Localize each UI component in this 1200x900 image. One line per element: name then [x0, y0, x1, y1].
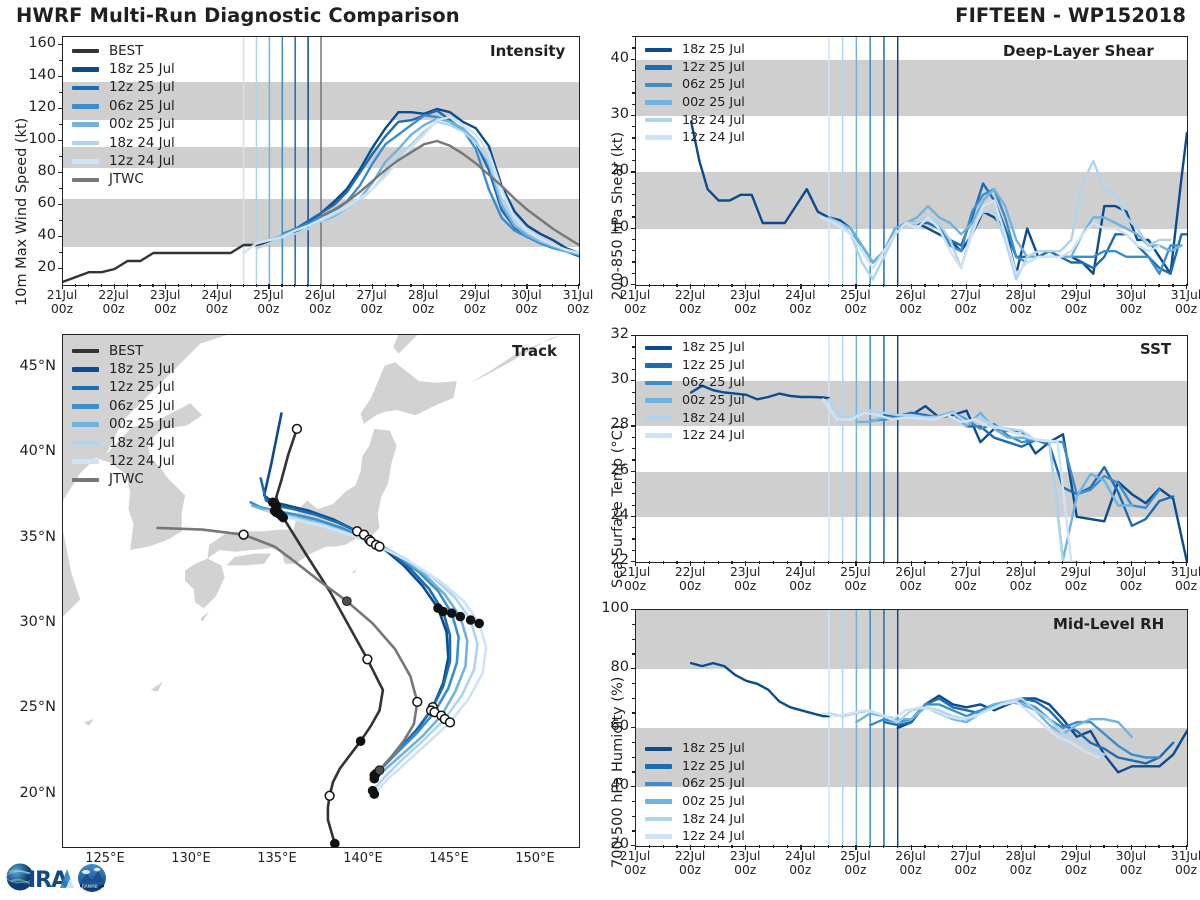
x-axis-minor-tick	[1172, 284, 1173, 287]
y-axis-minor-tick	[632, 653, 636, 654]
legend-item: BEST	[72, 42, 175, 60]
x-axis-minor-tick	[759, 845, 760, 848]
x-tick-day: 31Jul	[563, 288, 593, 302]
x-axis-minor-tick	[773, 284, 774, 287]
x-axis-minor-tick	[1090, 284, 1091, 287]
legend-item-label: 12z 25 Jul	[109, 80, 175, 95]
x-tick-hour: 00z	[51, 302, 73, 316]
x-axis-minor-tick	[787, 284, 788, 287]
y-axis-minor-tick	[59, 60, 63, 61]
x-tick-hour: 00z	[1120, 863, 1142, 877]
x-axis-minor-tick	[773, 561, 774, 564]
legend-item: 12z 25 Jul	[645, 357, 745, 375]
x-tick-day: 27Jul	[950, 849, 980, 863]
track-time-marker	[370, 774, 379, 783]
x-axis-tick-mark	[855, 284, 856, 289]
x-tick-hour: 00z	[844, 579, 866, 593]
map-lat-tick-label: 35°N	[4, 529, 56, 545]
x-axis-minor-tick	[359, 284, 360, 287]
x-tick-day: 26Jul	[895, 565, 925, 579]
y-axis-tick-mark	[58, 172, 63, 173]
figure-root: HWRF Multi-Run Diagnostic Comparison FIF…	[0, 0, 1200, 900]
x-tick-hour: 00z	[1010, 579, 1032, 593]
x-tick-day: 29Jul	[460, 288, 490, 302]
track-time-marker	[239, 530, 248, 539]
x-axis-tick-mark	[745, 284, 746, 289]
x-axis-minor-tick	[1117, 284, 1118, 287]
x-axis-tick-mark	[268, 284, 269, 289]
legend-item-label: 12z 25 Jul	[682, 759, 745, 774]
x-axis-minor-tick	[1007, 284, 1008, 287]
x-axis-minor-tick	[814, 561, 815, 564]
x-tick-hour: 00z	[309, 302, 331, 316]
x-axis-minor-tick	[1090, 561, 1091, 564]
x-axis-tick-label: 26Jul00z	[881, 288, 941, 316]
track-time-marker	[447, 609, 456, 618]
legend-item-label: 18z 24 Jul	[682, 113, 745, 128]
x-tick-day: 28Jul	[1005, 288, 1035, 302]
x-axis-tick-label: 26Jul00z	[881, 565, 941, 593]
x-axis-tick-mark	[911, 561, 912, 566]
y-axis-tick-label: 40	[593, 777, 629, 793]
legend-item: 18z 24 Jul	[72, 434, 175, 452]
x-axis-minor-tick	[1048, 845, 1049, 848]
x-tick-day: 29Jul	[1061, 849, 1091, 863]
legend-color-swatch	[72, 349, 99, 354]
x-axis-minor-tick	[1062, 845, 1063, 848]
legend-item-label: 06z 25 Jul	[682, 375, 745, 390]
x-axis-minor-tick	[979, 845, 980, 848]
data-series-line	[321, 141, 579, 245]
x-axis-tick-mark	[1076, 845, 1077, 850]
map-lon-tick-label: 150°E	[500, 852, 570, 867]
x-axis-minor-tick	[883, 284, 884, 287]
x-axis-tick-label: 27Jul00z	[936, 849, 996, 877]
legend-item-label: 00z 25 Jul	[682, 95, 745, 110]
legend-color-swatch	[645, 416, 672, 421]
x-tick-hour: 00z	[679, 302, 701, 316]
x-axis-minor-tick	[897, 284, 898, 287]
x-axis-minor-tick	[704, 561, 705, 564]
x-tick-hour: 00z	[899, 302, 921, 316]
x-tick-hour: 00z	[1065, 863, 1087, 877]
map-lon-tick-label: 135°E	[242, 852, 312, 867]
x-axis-minor-tick	[488, 284, 489, 287]
x-axis-minor-tick	[1048, 284, 1049, 287]
y-axis-minor-tick	[632, 683, 636, 684]
x-axis-tick-mark	[1076, 284, 1077, 289]
x-axis-minor-tick	[1103, 845, 1104, 848]
panel-track: 20°N25°N30°N35°N40°N45°N125°E130°E135°E1…	[0, 330, 590, 890]
y-axis-minor-tick	[632, 70, 636, 71]
legend-item-label: 00z 25 Jul	[682, 794, 745, 809]
x-axis-tick-mark	[855, 561, 856, 566]
x-tick-hour: 00z	[955, 302, 977, 316]
x-tick-day: 29Jul	[1061, 565, 1091, 579]
x-axis-tick-label: 29Jul00z	[1046, 565, 1106, 593]
y-axis-minor-tick	[632, 126, 636, 127]
legend-color-swatch	[645, 747, 672, 752]
y-axis-minor-tick	[632, 459, 636, 460]
x-axis-tick-mark	[800, 284, 801, 289]
y-axis-tick-label: 20	[20, 259, 56, 275]
x-tick-day: 24Jul	[785, 565, 815, 579]
x-tick-day: 25Jul	[840, 565, 870, 579]
legend-item: 12z 25 Jul	[645, 59, 745, 77]
x-axis-tick-label: 22Jul00z	[660, 849, 720, 877]
x-tick-hour: 00z	[1120, 579, 1142, 593]
legend-item: 12z 25 Jul	[645, 758, 745, 776]
x-axis-tick-mark	[635, 845, 636, 850]
y-axis-minor-tick	[632, 250, 636, 251]
legend-color-swatch	[72, 478, 99, 483]
legend-item: 00z 25 Jul	[72, 116, 175, 134]
track-time-marker	[475, 619, 484, 628]
panel-intensity: 10m Max Wind Speed (kt) 2040608010012014…	[0, 28, 590, 328]
figure-title-right: FIFTEEN - WP152018	[955, 4, 1186, 27]
x-axis-tick-mark	[855, 845, 856, 850]
y-axis-tick-mark	[631, 668, 636, 669]
x-axis-tick-mark	[423, 284, 424, 289]
legend-item-label: 18z 25 Jul	[109, 62, 175, 77]
y-axis-tick-mark	[58, 44, 63, 45]
y-axis-minor-tick	[632, 493, 636, 494]
x-tick-hour: 00z	[1175, 302, 1197, 316]
x-axis-minor-tick	[718, 561, 719, 564]
y-axis-tick-label: 100	[593, 600, 629, 616]
x-axis-tick-label: 21Jul00z	[605, 288, 665, 316]
x-tick-hour: 00z	[515, 302, 537, 316]
x-axis-minor-tick	[1090, 845, 1091, 848]
x-tick-hour: 00z	[1175, 863, 1197, 877]
track-time-marker	[356, 737, 365, 746]
x-axis-tick-label: 27Jul00z	[936, 288, 996, 316]
x-tick-hour: 00z	[206, 302, 228, 316]
x-tick-hour: 00z	[1175, 579, 1197, 593]
svg-text:IRA: IRA	[28, 868, 68, 893]
legend-item: 12z 24 Jul	[645, 427, 745, 445]
track-time-marker	[277, 512, 286, 521]
x-axis-minor-tick	[1145, 284, 1146, 287]
x-axis-tick-mark	[690, 284, 691, 289]
y-axis-tick-label: 120	[20, 99, 56, 115]
x-tick-day: 23Jul	[730, 565, 760, 579]
legend-color-swatch	[645, 83, 672, 88]
x-tick-hour: 00z	[789, 302, 811, 316]
x-tick-hour: 00z	[844, 863, 866, 877]
y-axis-tick-mark	[631, 59, 636, 60]
x-tick-day: 22Jul	[675, 565, 705, 579]
x-axis-minor-tick	[938, 845, 939, 848]
y-axis-tick-label: 24	[593, 507, 629, 523]
x-axis-tick-label: 22Jul00z	[660, 565, 720, 593]
legend-item: 00z 25 Jul	[645, 793, 745, 811]
x-axis-minor-tick	[952, 284, 953, 287]
x-axis-tick-label: 29Jul00z	[1046, 288, 1106, 316]
legend-color-swatch	[645, 346, 672, 351]
y-axis-minor-tick	[632, 482, 636, 483]
x-axis-minor-tick	[88, 284, 89, 287]
x-axis-tick-mark	[911, 845, 912, 850]
x-tick-day: 26Jul	[895, 288, 925, 302]
track-time-marker	[375, 766, 384, 775]
x-axis-minor-tick	[731, 561, 732, 564]
legend-color-swatch	[645, 817, 672, 822]
x-axis-tick-mark	[1021, 284, 1022, 289]
y-axis-minor-tick	[632, 137, 636, 138]
y-axis-tick-label: 40	[593, 50, 629, 66]
track-line	[281, 516, 486, 794]
legend-item: 00z 25 Jul	[645, 392, 745, 410]
x-axis-tick-label: 27Jul00z	[936, 565, 996, 593]
legend-item: 18z 25 Jul	[645, 41, 745, 59]
x-axis-minor-tick	[759, 561, 760, 564]
x-axis-tick-mark	[62, 284, 63, 289]
x-tick-day: 25Jul	[840, 849, 870, 863]
y-axis-tick-label: 26	[593, 462, 629, 478]
x-axis-minor-tick	[952, 561, 953, 564]
x-axis-minor-tick	[787, 561, 788, 564]
legend-item-label: 12z 24 Jul	[682, 428, 745, 443]
y-axis-minor-tick	[632, 639, 636, 640]
x-tick-day: 25Jul	[840, 288, 870, 302]
x-tick-day: 21Jul	[620, 849, 650, 863]
x-axis-minor-tick	[152, 284, 153, 287]
x-tick-day: 24Jul	[785, 849, 815, 863]
x-tick-day: 23Jul	[150, 288, 180, 302]
x-axis-tick-mark	[635, 561, 636, 566]
x-axis-minor-tick	[842, 284, 843, 287]
x-axis-minor-tick	[718, 284, 719, 287]
x-axis-tick-mark	[800, 845, 801, 850]
x-tick-hour: 00z	[734, 863, 756, 877]
legend-item: 18z 24 Jul	[645, 810, 745, 828]
x-axis-minor-tick	[993, 845, 994, 848]
x-tick-hour: 00z	[624, 863, 646, 877]
x-tick-hour: 00z	[464, 302, 486, 316]
x-axis-tick-mark	[526, 284, 527, 289]
x-axis-minor-tick	[410, 284, 411, 287]
x-axis-minor-tick	[869, 845, 870, 848]
x-tick-hour: 00z	[624, 302, 646, 316]
x-axis-tick-mark	[578, 284, 579, 289]
x-tick-hour: 00z	[789, 579, 811, 593]
x-axis-minor-tick	[1062, 561, 1063, 564]
y-axis-tick-mark	[631, 727, 636, 728]
x-axis-minor-tick	[178, 284, 179, 287]
x-tick-day: 30Jul	[1116, 288, 1146, 302]
x-axis-tick-label: 30Jul00z	[1101, 288, 1161, 316]
legend-color-swatch	[645, 799, 672, 804]
x-axis-tick-mark	[690, 561, 691, 566]
x-axis-minor-tick	[883, 561, 884, 564]
x-axis-minor-tick	[1007, 845, 1008, 848]
track-time-marker	[342, 597, 351, 606]
x-tick-hour: 00z	[844, 302, 866, 316]
legend-item-label: JTWC	[109, 472, 144, 487]
x-tick-hour: 00z	[1065, 302, 1087, 316]
x-tick-day: 29Jul	[1061, 288, 1091, 302]
x-axis-minor-tick	[397, 284, 398, 287]
y-axis-tick-mark	[631, 380, 636, 381]
track-time-marker	[413, 698, 422, 707]
x-axis-minor-tick	[1034, 561, 1035, 564]
y-axis-tick-label: 40	[20, 227, 56, 243]
y-axis-minor-tick	[632, 205, 636, 206]
land-ryukyu-1	[84, 719, 94, 726]
x-axis-minor-tick	[814, 284, 815, 287]
track-time-marker	[325, 791, 334, 800]
y-axis-tick-mark	[631, 471, 636, 472]
x-tick-hour: 00z	[257, 302, 279, 316]
data-series-line	[308, 109, 579, 253]
x-axis-tick-mark	[1131, 284, 1132, 289]
map-lat-tick-label: 20°N	[4, 785, 56, 801]
x-tick-day: 30Jul	[1116, 565, 1146, 579]
legend-item: 18z 25 Jul	[72, 60, 175, 78]
x-axis-tick-mark	[1186, 561, 1187, 566]
legend-color-swatch	[72, 67, 99, 72]
y-axis-minor-tick	[632, 771, 636, 772]
y-axis-tick-label: 100	[20, 131, 56, 147]
legend-color-swatch	[645, 834, 672, 839]
data-series-line	[691, 663, 829, 716]
legend-color-swatch	[72, 404, 99, 409]
x-axis-tick-mark	[966, 284, 967, 289]
x-tick-day: 21Jul	[620, 288, 650, 302]
legend-item: 06z 25 Jul	[645, 374, 745, 392]
legend-item-label: 18z 24 Jul	[682, 411, 745, 426]
x-axis-minor-tick	[333, 284, 334, 287]
y-axis-tick-mark	[631, 228, 636, 229]
x-axis-minor-tick	[1034, 845, 1035, 848]
x-axis-minor-tick	[1062, 284, 1063, 287]
x-axis-tick-label: 31Jul00z	[1156, 849, 1200, 877]
legend-item: JTWC	[72, 171, 175, 189]
x-tick-day: 28Jul	[1005, 565, 1035, 579]
x-tick-hour: 00z	[1065, 579, 1087, 593]
y-axis-minor-tick	[632, 183, 636, 184]
x-tick-day: 23Jul	[730, 288, 760, 302]
x-axis-minor-tick	[814, 845, 815, 848]
x-tick-hour: 00z	[361, 302, 383, 316]
legend-item-label: 18z 25 Jul	[682, 340, 745, 355]
x-axis-minor-tick	[1034, 284, 1035, 287]
legend-item: 18z 25 Jul	[72, 360, 175, 378]
panel-shear: 200-850 hPa Shear (kt) 01020304021Jul00z…	[600, 28, 1200, 328]
legend-item-label: 18z 24 Jul	[109, 436, 175, 451]
x-axis-tick-mark	[114, 284, 115, 289]
y-axis-minor-tick	[59, 252, 63, 253]
legend-color-swatch	[645, 433, 672, 438]
y-axis-minor-tick	[632, 194, 636, 195]
x-axis-tick-label: 26Jul00z	[881, 849, 941, 877]
y-axis-minor-tick	[59, 92, 63, 93]
x-tick-day: 24Jul	[785, 288, 815, 302]
x-axis-minor-tick	[230, 284, 231, 287]
x-tick-hour: 00z	[899, 579, 921, 593]
x-axis-tick-mark	[1131, 845, 1132, 850]
x-axis-tick-label: 25Jul00z	[825, 565, 885, 593]
x-tick-day: 26Jul	[895, 849, 925, 863]
land-okinawa	[151, 682, 163, 692]
x-axis-tick-label: 21Jul00z	[605, 849, 665, 877]
x-axis-minor-tick	[1048, 561, 1049, 564]
legend-item-label: 06z 25 Jul	[682, 776, 745, 791]
y-axis-tick-mark	[631, 609, 636, 610]
legend-item-label: BEST	[109, 344, 143, 359]
x-axis-minor-tick	[993, 284, 994, 287]
x-axis-minor-tick	[1007, 561, 1008, 564]
x-axis-tick-mark	[1076, 561, 1077, 566]
x-axis-tick-label: 28Jul00z	[991, 849, 1051, 877]
legend-color-swatch	[645, 118, 672, 123]
legend-color-swatch	[72, 459, 99, 464]
legend-item: 06z 25 Jul	[72, 97, 175, 115]
legend-item: 12z 24 Jul	[72, 152, 175, 170]
intensity-panel-title: Intensity	[490, 42, 565, 60]
legend-item-label: JTWC	[109, 172, 144, 187]
x-axis-minor-tick	[1103, 284, 1104, 287]
x-tick-day: 24Jul	[202, 288, 232, 302]
x-axis-minor-tick	[924, 284, 925, 287]
x-axis-minor-tick	[514, 284, 515, 287]
track-panel-title: Track	[512, 342, 557, 360]
x-axis-minor-tick	[773, 845, 774, 848]
y-axis-minor-tick	[632, 830, 636, 831]
x-axis-minor-tick	[1158, 284, 1159, 287]
legend-item-label: 12z 24 Jul	[109, 454, 175, 469]
x-axis-minor-tick	[649, 561, 650, 564]
legend-color-swatch	[72, 122, 99, 127]
map-lat-tick-label: 30°N	[4, 614, 56, 630]
x-axis-minor-tick	[676, 561, 677, 564]
track-time-marker	[363, 655, 372, 664]
x-axis-minor-tick	[346, 284, 347, 287]
x-axis-minor-tick	[281, 284, 282, 287]
map-lat-tick-label: 25°N	[4, 699, 56, 715]
legend-color-swatch	[72, 386, 99, 391]
x-axis-tick-mark	[911, 284, 912, 289]
x-axis-minor-tick	[828, 284, 829, 287]
legend-color-swatch	[645, 363, 672, 368]
x-tick-hour: 00z	[1120, 302, 1142, 316]
shear-panel-title: Deep-Layer Shear	[1003, 42, 1154, 60]
y-axis-tick-label: 28	[593, 416, 629, 432]
shear-legend: 18z 25 Jul12z 25 Jul06z 25 Jul00z 25 Jul…	[645, 41, 745, 147]
x-axis-tick-mark	[1186, 284, 1187, 289]
track-time-marker	[439, 607, 448, 616]
y-axis-minor-tick	[632, 273, 636, 274]
y-axis-minor-tick	[632, 216, 636, 217]
land-kyushu	[185, 559, 225, 609]
legend-item: 18z 25 Jul	[645, 339, 745, 357]
x-axis-minor-tick	[979, 284, 980, 287]
y-axis-minor-tick	[632, 414, 636, 415]
legend-item-label: 18z 24 Jul	[109, 136, 175, 151]
y-axis-minor-tick	[632, 505, 636, 506]
legend-item-label: 00z 25 Jul	[109, 117, 175, 132]
x-axis-minor-tick	[462, 284, 463, 287]
y-axis-tick-label: 20	[593, 162, 629, 178]
y-axis-minor-tick	[632, 712, 636, 713]
y-axis-tick-mark	[631, 335, 636, 336]
x-axis-minor-tick	[993, 561, 994, 564]
x-axis-minor-tick	[828, 845, 829, 848]
y-axis-minor-tick	[632, 742, 636, 743]
legend-color-swatch	[645, 100, 672, 105]
x-axis-minor-tick	[101, 284, 102, 287]
